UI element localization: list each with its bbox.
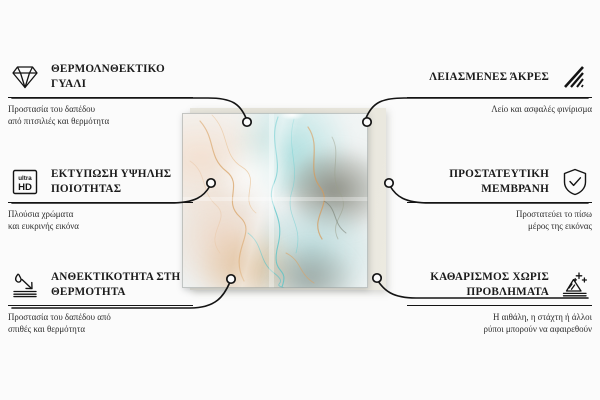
feature-heat-resistant-glass: ΘΕΡΜΟΛΝΘΕΚΤΙΚΟ ΓΥΑΛΙ Προστασία του δαπέδ… bbox=[8, 60, 193, 128]
feature-divider bbox=[8, 97, 193, 98]
feature-description: Η αιθάλη, η στάχτη ή άλλοι ρύποι μπορούν… bbox=[407, 311, 592, 336]
sparkle-clean-icon bbox=[558, 269, 592, 301]
feature-high-quality-print: ultra HD ΕΚΤΥΠΩΣΗ ΥΨΗΛΗΣ ΠΟΙΟΤΗΤΑΣ Πλούσ… bbox=[8, 165, 193, 233]
feature-divider bbox=[407, 305, 592, 306]
feature-divider bbox=[8, 202, 193, 203]
feature-title: ΠΡΟΣΤΑΤΕΥΤΙΚΗ ΜΕΜΒΡΑΝΗ bbox=[407, 167, 549, 197]
feature-header: ultra HD ΕΚΤΥΠΩΣΗ ΥΨΗΛΗΣ ΠΟΙΟΤΗΤΑΣ bbox=[8, 165, 193, 199]
feature-title: ΕΚΤΥΠΩΣΗ ΥΨΗΛΗΣ ΠΟΙΟΤΗΤΑΣ bbox=[51, 167, 193, 197]
feature-description: Προστασία του δαπέδου από πιτσιλιές και … bbox=[8, 103, 193, 128]
diamond-icon bbox=[8, 61, 42, 93]
feature-divider bbox=[407, 202, 592, 203]
feature-description: Προστασία του δαπέδου από σπιθές και θερ… bbox=[8, 311, 193, 336]
feature-header: ΘΕΡΜΟΛΝΘΕΚΤΙΚΟ ΓΥΑΛΙ bbox=[8, 60, 193, 94]
feature-title: ΑΝΘΕΚΤΙΚΟΤΗΤΑ ΣΤΗ ΘΕΡΜΟΤΗΤΑ bbox=[51, 270, 193, 300]
glass-splashback-front bbox=[182, 113, 368, 288]
feature-divider bbox=[407, 97, 592, 98]
product-image bbox=[182, 113, 382, 288]
feature-heat-resistance: ΑΝΘΕΚΤΙΚΟΤΗΤΑ ΣΤΗ ΘΕΡΜΟΤΗΤΑ Προστασία το… bbox=[8, 268, 193, 336]
feature-polished-edges: ΛΕΙΑΣΜΕΝΕΣ ΆΚΡΕΣ Λείο και ασφαλές φινίρι… bbox=[407, 60, 592, 115]
feature-easy-cleaning: ΚΑΘΑΡΙΣΜΟΣ ΧΩΡΙΣ ΠΡΟΒΛΗΜΑΤΑ Η αιθάλη, η … bbox=[407, 268, 592, 336]
feature-protective-membrane: ΠΡΟΣΤΑΤΕΥΤΙΚΗ ΜΕΜΒΡΑΝΗ Προστατεύει το πί… bbox=[407, 165, 592, 233]
ink-vein-lines bbox=[182, 113, 368, 288]
svg-text:HD: HD bbox=[18, 182, 32, 193]
feature-divider bbox=[8, 305, 193, 306]
polished-edges-icon bbox=[558, 61, 592, 93]
feature-title: ΘΕΡΜΟΛΝΘΕΚΤΙΚΟ ΓΥΑΛΙ bbox=[51, 62, 193, 92]
svg-text:ultra: ultra bbox=[18, 175, 32, 182]
feature-description: Πλούσια χρώματα και ευκρινής εικόνα bbox=[8, 208, 193, 233]
feature-description: Προστατεύει το πίσω μέρος της εικόνας bbox=[407, 208, 592, 233]
connector-dot-membrane bbox=[385, 179, 393, 187]
feature-header: ΠΡΟΣΤΑΤΕΥΤΙΚΗ ΜΕΜΒΡΑΝΗ bbox=[407, 165, 592, 199]
feature-header: ΛΕΙΑΣΜΕΝΕΣ ΆΚΡΕΣ bbox=[407, 60, 592, 94]
heat-resistance-icon bbox=[8, 269, 42, 301]
feature-description: Λείο και ασφαλές φινίρισμα bbox=[407, 103, 592, 115]
feature-header: ΚΑΘΑΡΙΣΜΟΣ ΧΩΡΙΣ ΠΡΟΒΛΗΜΑΤΑ bbox=[407, 268, 592, 302]
feature-title: ΛΕΙΑΣΜΕΝΕΣ ΆΚΡΕΣ bbox=[407, 70, 549, 85]
product-infographic: ΘΕΡΜΟΛΝΘΕΚΤΙΚΟ ΓΥΑΛΙ Προστασία του δαπέδ… bbox=[0, 0, 600, 400]
feature-header: ΑΝΘΕΚΤΙΚΟΤΗΤΑ ΣΤΗ ΘΕΡΜΟΤΗΤΑ bbox=[8, 268, 193, 302]
ultra-hd-icon: ultra HD bbox=[8, 166, 42, 198]
shield-check-icon bbox=[558, 166, 592, 198]
feature-title: ΚΑΘΑΡΙΣΜΟΣ ΧΩΡΙΣ ΠΡΟΒΛΗΜΑΤΑ bbox=[407, 270, 549, 300]
